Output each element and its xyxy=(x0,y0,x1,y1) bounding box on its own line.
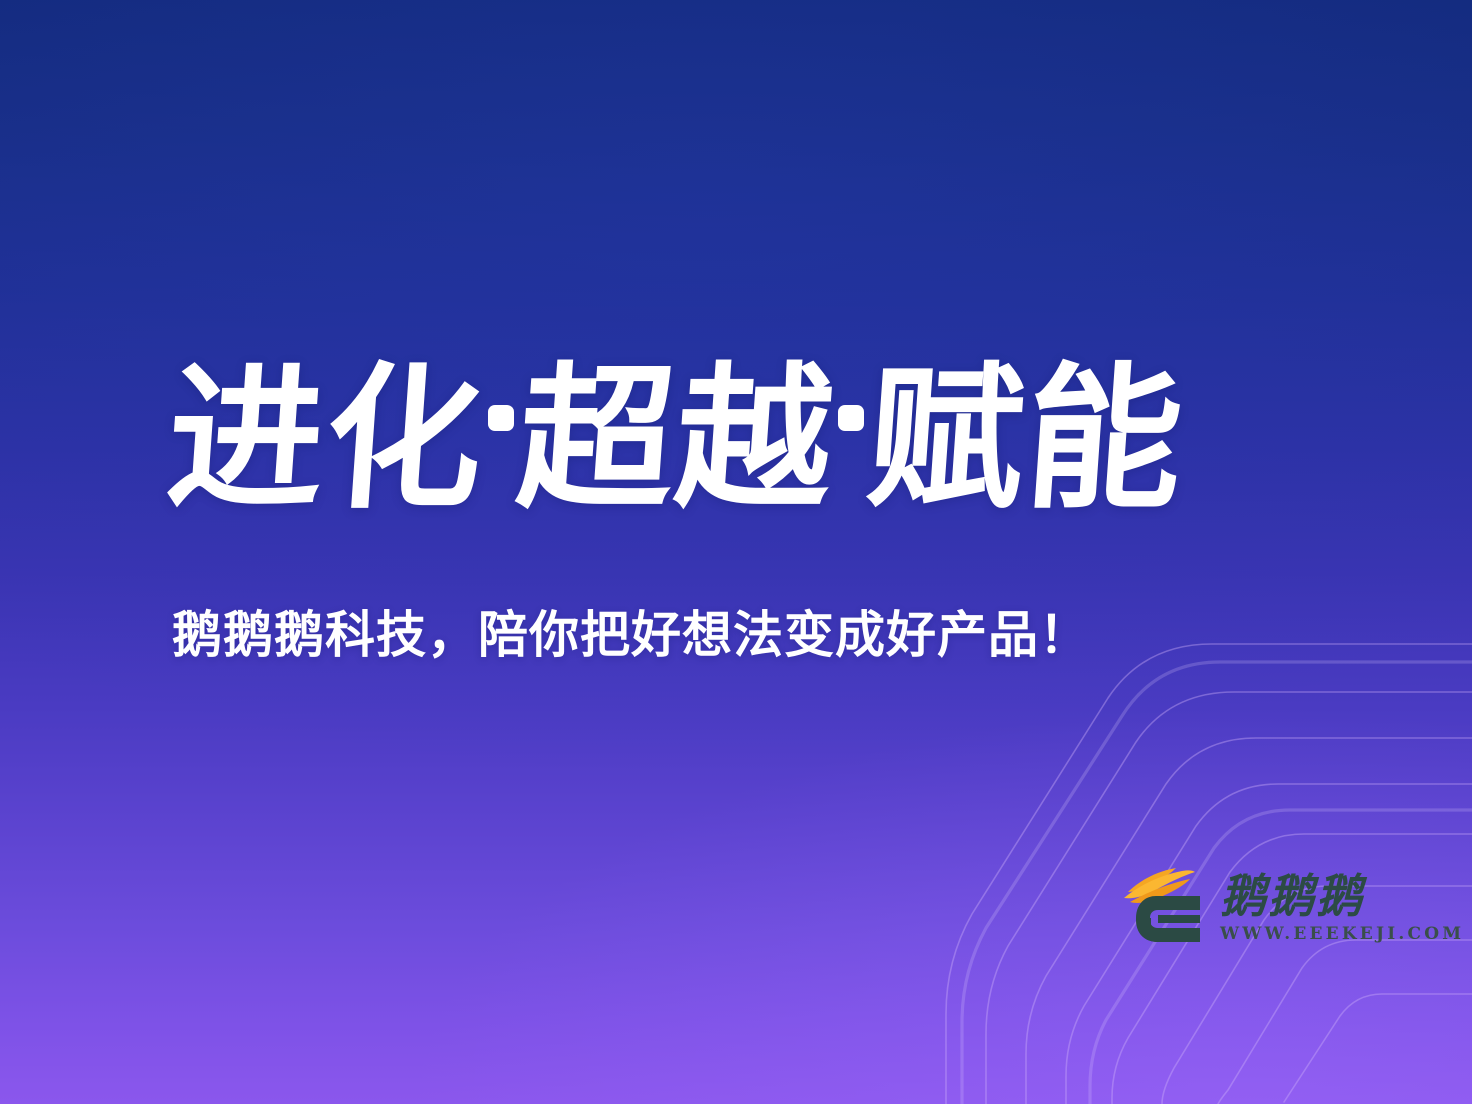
headline-segment-1: 进化 xyxy=(163,362,490,518)
page-title: 进化超越赋能 xyxy=(168,362,1288,518)
headline-segment-3: 赋能 xyxy=(863,362,1190,518)
brand-website: WWW.EEEKEJI.COM xyxy=(1220,924,1464,944)
brand-logo: 鹅鹅鹅 WWW.EEEKEJI.COM xyxy=(1122,866,1464,962)
headline-separator-dot-1 xyxy=(484,328,518,484)
e-flame-logo-icon xyxy=(1122,866,1206,962)
brand-name-cn: 鹅鹅鹅 xyxy=(1220,872,1464,920)
headline-segment-2: 超越 xyxy=(513,362,840,518)
headline-separator-dot-2 xyxy=(834,328,868,484)
page-subtitle: 鹅鹅鹅科技，陪你把好想法变成好产品！ xyxy=(172,608,1090,663)
logo-text-block: 鹅鹅鹅 WWW.EEEKEJI.COM xyxy=(1220,866,1464,944)
banner-slide: 进化超越赋能 鹅鹅鹅科技，陪你把好想法变成好产品！ 鹅鹅鹅 WWW.EEEKEJ… xyxy=(0,0,1472,1104)
